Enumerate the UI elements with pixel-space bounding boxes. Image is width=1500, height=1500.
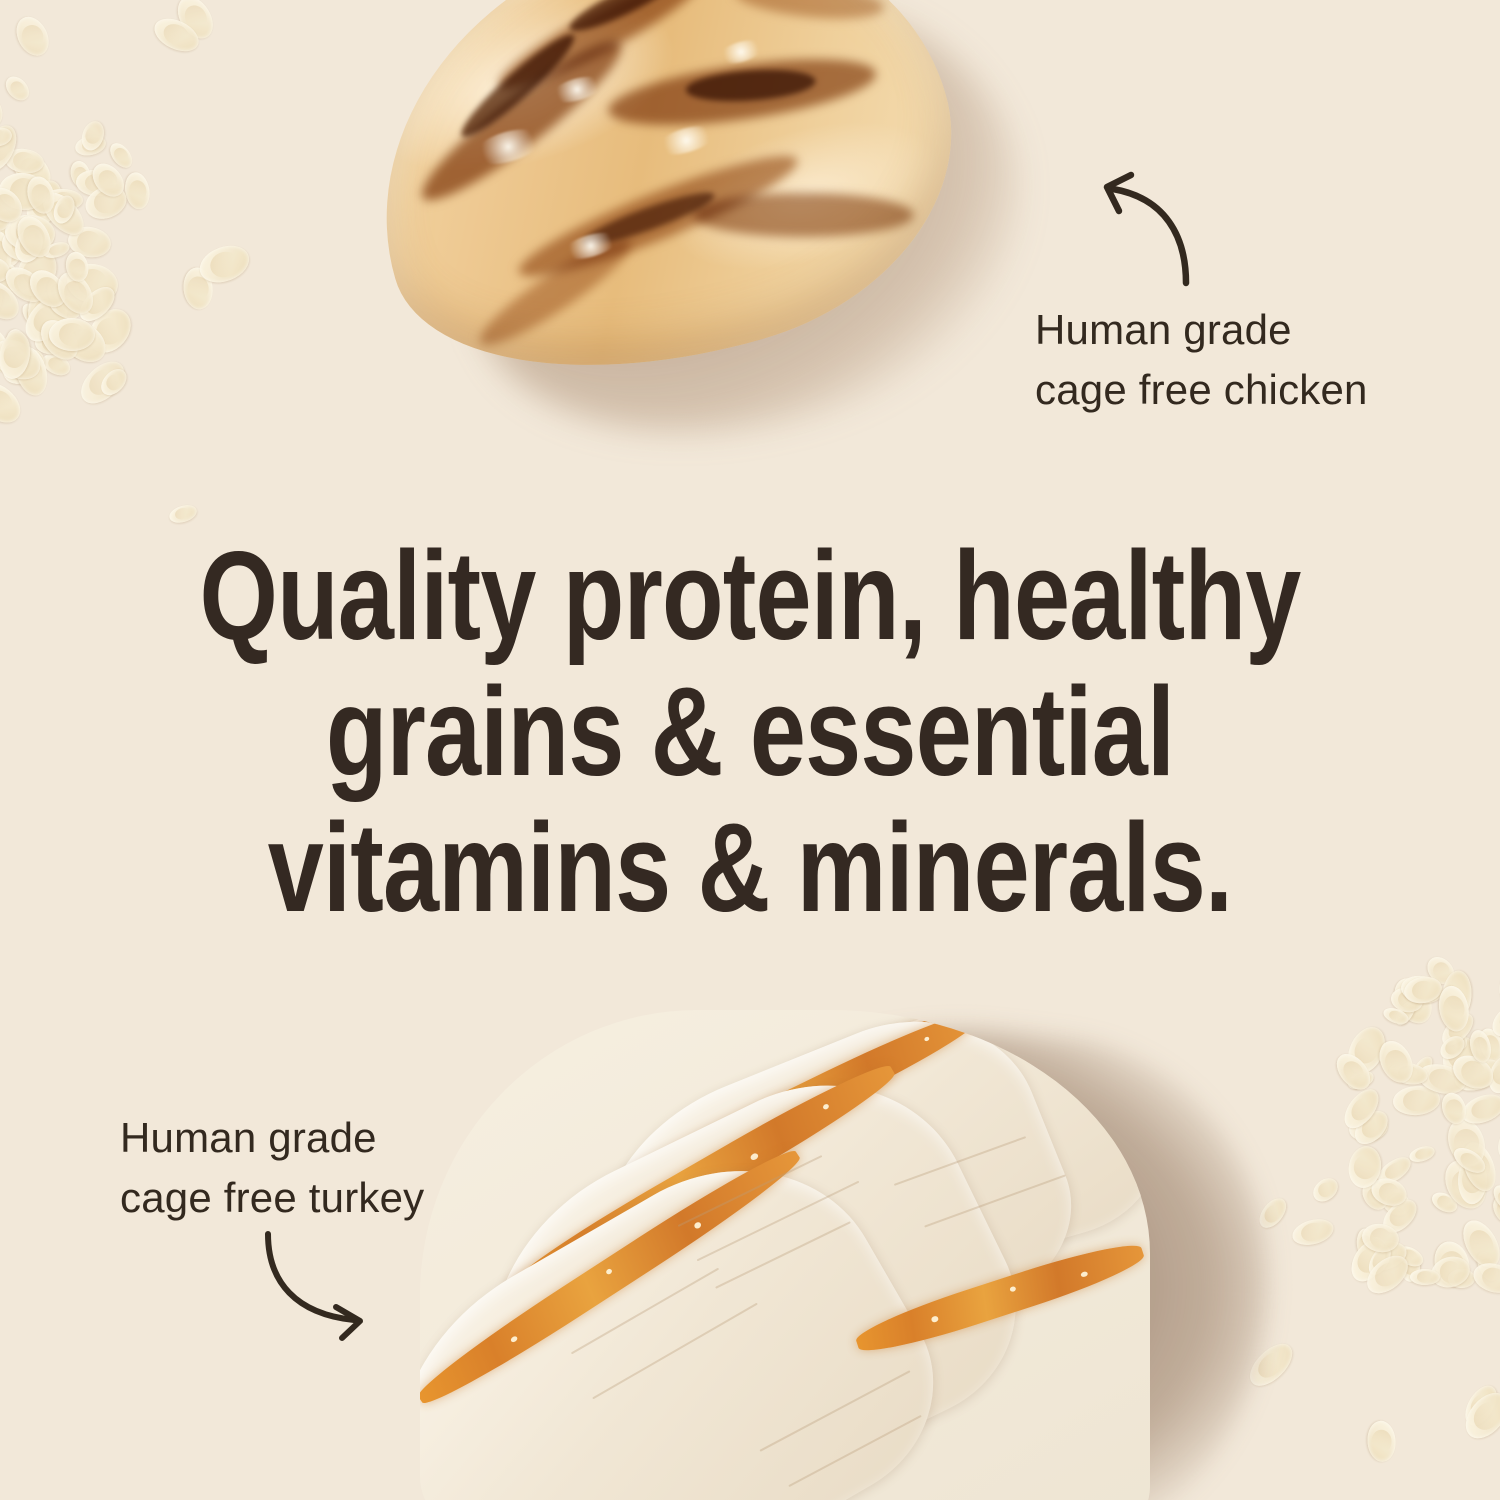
curved-arrow-up-left-icon	[1085, 170, 1215, 290]
oat-flake	[10, 11, 55, 61]
callout-turkey-line-2: cage free turkey	[120, 1168, 424, 1228]
oat-flake	[1290, 1215, 1337, 1250]
callout-chicken-line-1: Human grade	[1035, 300, 1368, 360]
oat-flake	[1494, 1121, 1500, 1162]
rolled-oats-cluster-right	[1300, 930, 1500, 1330]
product-feature-graphic: Human grade cage free chicken Quality pr…	[0, 0, 1500, 1500]
headline-line-3: vitamins & minerals.	[150, 800, 1350, 936]
oat-flake	[1407, 1143, 1436, 1164]
page-headline: Quality protein, healthy grains & essent…	[150, 528, 1350, 936]
callout-turkey-label: Human grade cage free turkey	[120, 1108, 424, 1228]
turkey-slice-stack	[420, 1010, 1150, 1500]
oat-flake	[1309, 1174, 1342, 1206]
oat-flake	[168, 502, 199, 525]
callout-turkey-line-1: Human grade	[120, 1108, 424, 1168]
oat-flake	[123, 171, 153, 212]
oat-flake	[1470, 1259, 1500, 1298]
oat-flake	[1366, 1420, 1397, 1463]
curved-arrow-down-right-icon	[258, 1228, 388, 1348]
rolled-oats-cluster-top-left	[0, 110, 210, 450]
oat-flake	[1495, 958, 1500, 1008]
roasted-turkey-slices-photo	[420, 980, 1240, 1500]
callout-chicken-line-2: cage free chicken	[1035, 360, 1368, 420]
grilled-chicken-breast-photo	[300, 0, 1000, 440]
callout-chicken-label: Human grade cage free chicken	[1035, 300, 1368, 420]
oat-flake	[1, 72, 33, 105]
headline-line-1: Quality protein, healthy	[150, 528, 1350, 664]
headline-line-2: grains & essential	[150, 664, 1350, 800]
oat-flake	[48, 318, 94, 351]
